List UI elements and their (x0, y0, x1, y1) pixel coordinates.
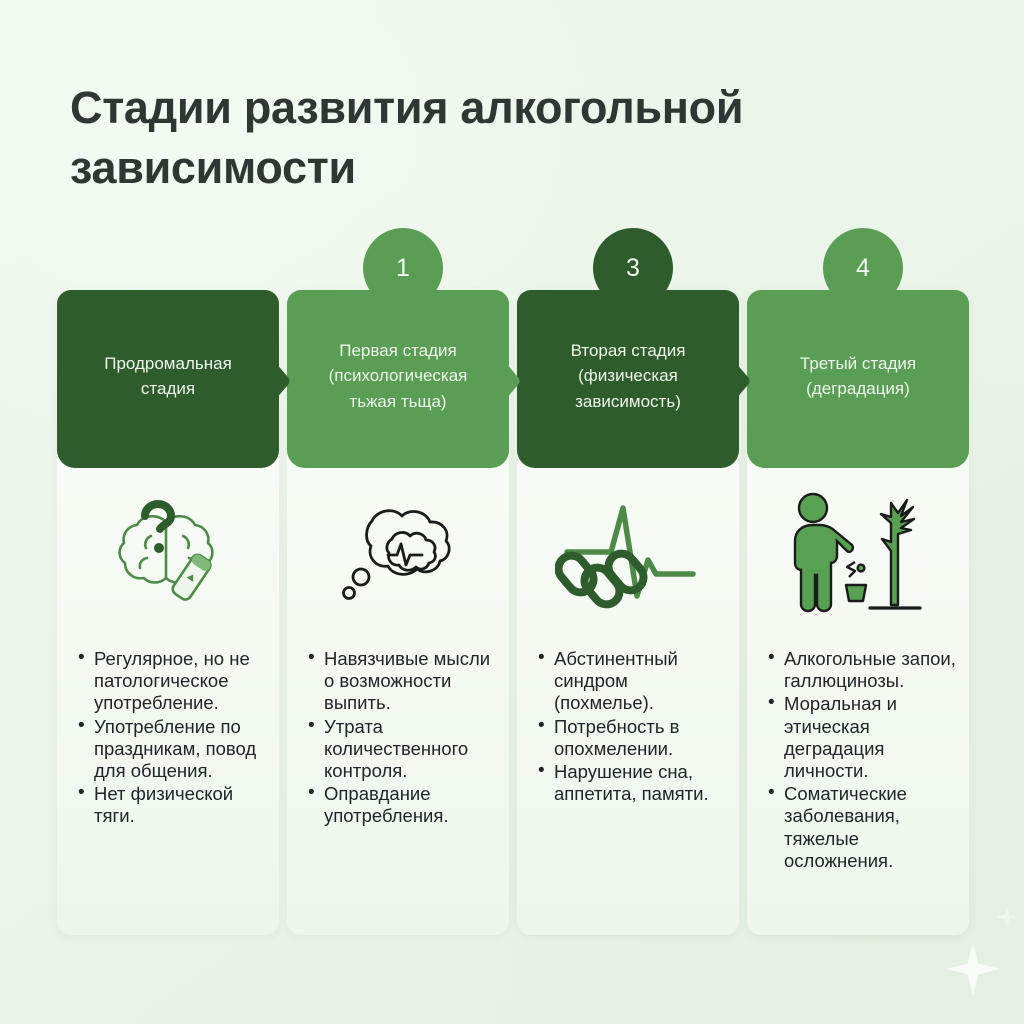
infographic-canvas: Стадии развития алкогольной зависимости … (0, 0, 1024, 1024)
stage-header-2: Первая стадия (психологическая тьжая тьщ… (287, 290, 509, 468)
stage-card-4[interactable]: Третый стадия (деградация) (747, 290, 969, 935)
stage-header-3: Вторая стадия (физическая зависимость) (517, 290, 739, 468)
list-item: Навязчивые мысли о возможности выпить. (307, 648, 499, 715)
stage-card-2[interactable]: Первая стадия (психологическая тьжая тьщ… (287, 290, 509, 935)
stage-card-3[interactable]: Вторая стадия (физическая зависимость) А… (517, 290, 739, 935)
list-item: Нет физической тяги. (77, 783, 269, 827)
list-item: Оправдание употребления. (307, 783, 499, 827)
stage-bullet-list-1: Регулярное, но не патологическое употреб… (77, 648, 269, 829)
list-item: Алкогольные запои, галлюцинозы. (767, 648, 959, 692)
chevron-right-icon-3 (724, 358, 754, 404)
person-dead-tree-icon (747, 476, 969, 626)
thought-bubble-heartbeat-icon (287, 476, 509, 626)
stage-header-line-1: Первая стадия (329, 338, 468, 364)
stage-card-1[interactable]: Продромальная стадия (57, 290, 279, 935)
list-item: Абстинентный синдром (похмелье). (537, 648, 729, 715)
stage-header-line-2: (деградация) (800, 376, 916, 402)
list-item: Утрата количественного контроля. (307, 716, 499, 783)
chevron-right-icon-2 (494, 358, 524, 404)
stage-header-line-3: тьжая тьща) (329, 389, 468, 415)
stage-header-line-1: Вторая стадия (571, 338, 686, 364)
stage-header-line-3: зависимость) (571, 389, 686, 415)
stage-header-line-2: (физическая (571, 363, 686, 389)
page-title: Стадии развития алкогольной зависимости (70, 78, 890, 199)
sparkle-icon (946, 942, 1000, 996)
list-item: Соматические заболевания, тяжелые осложн… (767, 783, 959, 872)
stage-header-1: Продромальная стадия (57, 290, 279, 468)
stage-bullet-list-4: Алкогольные запои, галлюцинозы. Моральна… (767, 648, 959, 873)
stage-bullet-list-3: Абстинентный синдром (похмелье). Потребн… (537, 648, 729, 806)
list-item: Потребность в опохмелении. (537, 716, 729, 760)
stage-header-line-1: Продромальная (104, 351, 232, 377)
chain-heartbeat-icon (517, 476, 739, 626)
stage-bullet-list-2: Навязчивые мысли о возможности выпить. У… (307, 648, 499, 829)
list-item: Употребление по праздникам, повод для об… (77, 716, 269, 783)
brain-question-bottle-icon (57, 476, 279, 626)
list-item: Моральная и этическая деградация личност… (767, 693, 959, 782)
stage-header-line-2: стадия (104, 376, 232, 402)
stage-header-4: Третый стадия (деградация) (747, 290, 969, 468)
stage-header-line-2: (психологическая (329, 363, 468, 389)
chevron-right-icon-1 (264, 358, 294, 404)
list-item: Нарушение сна, аппетита, памяти. (537, 761, 729, 805)
stage-header-line-1: Третый стадия (800, 351, 916, 377)
sparkle-icon-small (996, 906, 1018, 928)
list-item: Регулярное, но не патологическое употреб… (77, 648, 269, 715)
